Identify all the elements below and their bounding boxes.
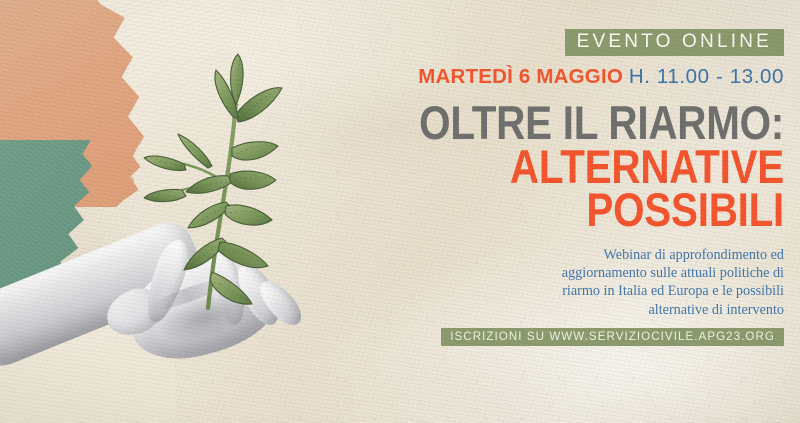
description-line: alternative di intervento <box>314 301 784 319</box>
event-date: MARTEDÌ 6 MAGGIO <box>418 65 623 88</box>
event-time: H. 11.00 - 13.00 <box>629 65 784 88</box>
headline-line-2: ALTERNATIVE <box>380 145 784 189</box>
description-line: aggiornamento sulle attuali politiche di <box>314 264 784 282</box>
olive-branch-icon <box>112 56 332 316</box>
description-line: Webinar di approfondimento ed <box>314 246 784 264</box>
event-type-badge: EVENTO ONLINE <box>565 29 784 56</box>
poster-canvas: EVENTO ONLINE MARTEDÌ 6 MAGGIO H. 11.00 … <box>0 0 800 423</box>
headline-line-1: OLTRE IL RIARMO: <box>380 101 784 145</box>
event-datetime: MARTEDÌ 6 MAGGIO H. 11.00 - 13.00 <box>314 65 784 89</box>
registration-url-badge[interactable]: ISCRIZIONI SU WWW.SERVIZIOCIVILE.APG23.O… <box>441 328 784 347</box>
event-description: Webinar di approfondimento ed aggiorname… <box>314 246 784 319</box>
page-title: OLTRE IL RIARMO: ALTERNATIVE POSSIBILI <box>380 101 784 232</box>
description-line: riarmo in Italia ed Europa e le possibil… <box>314 282 784 300</box>
text-column: EVENTO ONLINE MARTEDÌ 6 MAGGIO H. 11.00 … <box>314 0 784 423</box>
headline-line-3: POSSIBILI <box>380 188 784 232</box>
